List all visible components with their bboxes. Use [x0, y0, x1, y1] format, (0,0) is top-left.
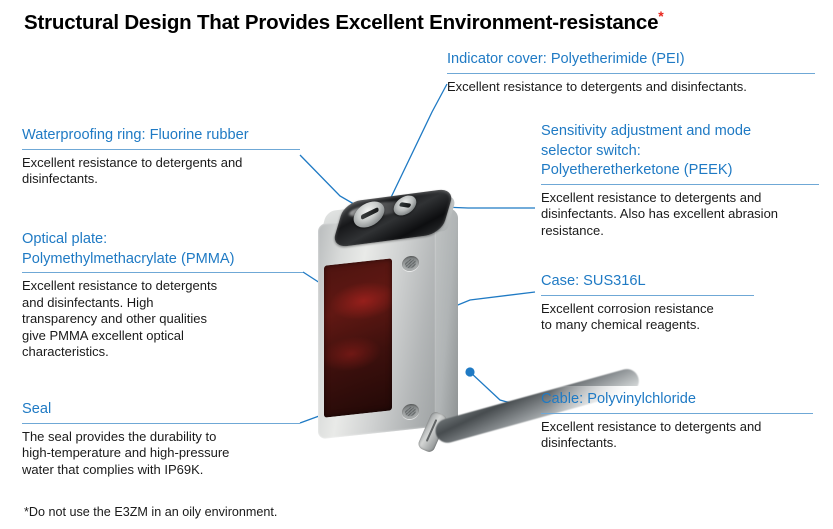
page-title: Structural Design That Provides Excellen… — [24, 8, 814, 35]
callout-seal: Seal The seal provides the durability to… — [22, 400, 300, 478]
callout-rule — [541, 413, 813, 414]
callout-cable: Cable: Polyvinylchloride Excellent resis… — [541, 390, 813, 452]
callout-body: Excellent resistance to detergents and d… — [22, 278, 303, 361]
dial-slot — [361, 207, 379, 220]
page-title-text: Structural Design That Provides Excellen… — [24, 11, 658, 34]
callout-body: Excellent resistance to detergents and d… — [447, 79, 815, 96]
callout-case: Case: SUS316L Excellent corrosion resist… — [541, 272, 754, 334]
callout-title: Indicator cover: Polyetherimide (PEI) — [447, 50, 815, 70]
callout-body: The seal provides the durability to high… — [22, 429, 300, 479]
product-photo-e3zm — [300, 190, 530, 460]
callout-body: Excellent resistance to detergents and d… — [541, 419, 813, 452]
callout-title: Waterproofing ring: Fluorine rubber — [22, 126, 300, 146]
title-asterisk: * — [658, 8, 663, 24]
switch-slot — [399, 202, 412, 208]
callout-title: Optical plate: Polymethylmethacrylate (P… — [22, 230, 303, 269]
callout-indicator-cover: Indicator cover: Polyetherimide (PEI) Ex… — [447, 50, 815, 95]
callout-rule — [541, 184, 819, 185]
callout-sensitivity-switch: Sensitivity adjustment and mode selector… — [541, 122, 819, 239]
callout-optical-plate: Optical plate: Polymethylmethacrylate (P… — [22, 230, 303, 361]
diagram-canvas: Structural Design That Provides Excellen… — [0, 0, 833, 529]
callout-title: Sensitivity adjustment and mode selector… — [541, 122, 819, 181]
footnote: *Do not use the E3ZM in an oily environm… — [24, 505, 444, 519]
screw-thread-bottom — [405, 406, 416, 416]
callout-rule — [447, 73, 815, 74]
callout-body: Excellent corrosion resistance to many c… — [541, 301, 754, 334]
optical-window — [324, 258, 392, 417]
callout-title: Seal — [22, 400, 300, 420]
callout-body: Excellent resistance to detergents and d… — [541, 190, 819, 240]
callout-rule — [22, 272, 303, 273]
callout-title: Cable: Polyvinylchloride — [541, 390, 813, 410]
callout-title: Case: SUS316L — [541, 272, 754, 292]
callout-rule — [541, 295, 754, 296]
callout-rule — [22, 149, 300, 150]
callout-body: Excellent resistance to detergents and d… — [22, 155, 300, 188]
screw-thread-top — [405, 258, 416, 268]
callout-rule — [22, 423, 300, 424]
callout-waterproofing-ring: Waterproofing ring: Fluorine rubber Exce… — [22, 126, 300, 188]
